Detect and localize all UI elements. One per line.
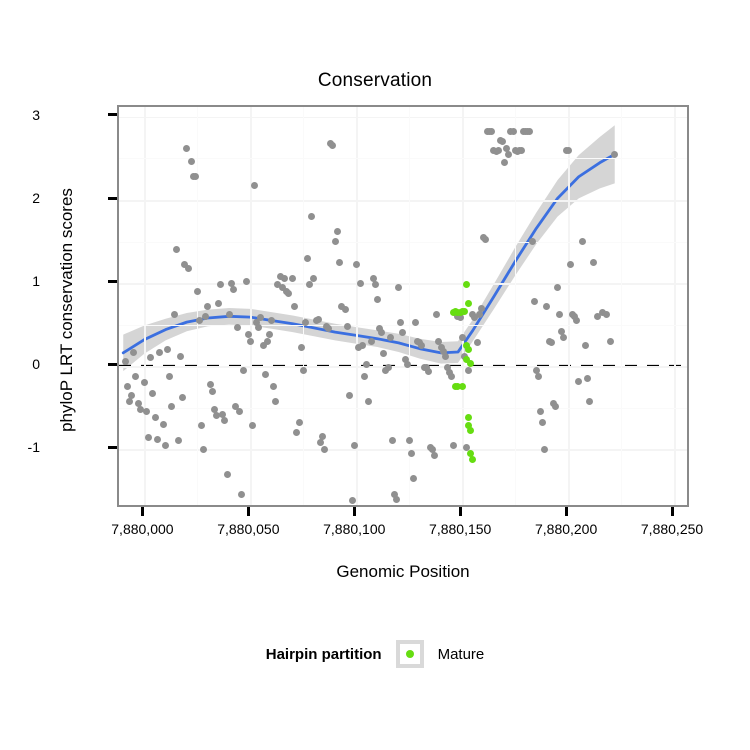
- data-point-other: [200, 446, 207, 453]
- data-point-other: [149, 390, 156, 397]
- data-point-other: [611, 151, 618, 158]
- data-point-other: [329, 142, 336, 149]
- gridline-x-minor: [409, 107, 410, 507]
- data-point-other: [243, 278, 250, 285]
- x-tick-label: 7,880,100: [323, 521, 385, 537]
- data-point-other: [357, 280, 364, 287]
- data-point-other: [543, 303, 550, 310]
- data-point-other: [247, 338, 254, 345]
- data-point-other: [321, 446, 328, 453]
- data-point-mature: [459, 308, 466, 315]
- x-tick-mark: [565, 507, 568, 516]
- data-point-other: [141, 379, 148, 386]
- data-point-other: [359, 342, 366, 349]
- gridline-y-major: [119, 283, 689, 285]
- gridline-y-major: [119, 117, 689, 119]
- data-point-other: [143, 408, 150, 415]
- data-point-other: [349, 497, 356, 504]
- data-point-other: [166, 373, 173, 380]
- gridline-y-minor: [119, 408, 689, 409]
- data-point-other: [395, 284, 402, 291]
- data-point-other: [171, 311, 178, 318]
- data-point-other: [221, 417, 228, 424]
- gridline-x-minor: [303, 107, 304, 507]
- legend-key-mature[interactable]: [396, 640, 424, 668]
- y-axis-title: phyloP LRT conservation scores: [57, 110, 77, 510]
- data-point-other: [425, 368, 432, 375]
- data-point-other: [478, 305, 485, 312]
- x-axis-title: Genomic Position: [117, 562, 689, 582]
- x-tick-mark: [353, 507, 356, 516]
- data-point-other: [160, 421, 167, 428]
- data-point-other: [308, 213, 315, 220]
- data-point-other: [188, 158, 195, 165]
- x-tick-label: 7,880,250: [641, 521, 703, 537]
- x-tick-mark: [247, 507, 250, 516]
- data-point-other: [501, 159, 508, 166]
- data-point-other: [325, 325, 332, 332]
- data-point-other: [249, 422, 256, 429]
- data-point-other: [147, 354, 154, 361]
- data-point-other: [495, 147, 502, 154]
- data-point-other: [296, 419, 303, 426]
- data-point-other: [266, 331, 273, 338]
- data-point-other: [332, 238, 339, 245]
- data-point-other: [342, 306, 349, 313]
- data-point-other: [179, 394, 186, 401]
- data-point-other: [128, 392, 135, 399]
- data-point-other: [488, 128, 495, 135]
- y-tick-label: 1: [0, 273, 40, 289]
- data-point-other: [209, 388, 216, 395]
- data-point-other: [306, 281, 313, 288]
- data-point-other: [510, 128, 517, 135]
- data-point-other: [156, 349, 163, 356]
- data-point-other: [215, 300, 222, 307]
- data-point-other: [226, 311, 233, 318]
- data-point-other: [389, 437, 396, 444]
- data-point-other: [207, 381, 214, 388]
- data-point-other: [300, 367, 307, 374]
- gridline-x-major: [250, 107, 252, 507]
- data-point-other: [399, 329, 406, 336]
- legend-title: Hairpin partition: [266, 646, 382, 663]
- data-point-other: [385, 364, 392, 371]
- data-point-other: [317, 439, 324, 446]
- gridline-x-minor: [197, 107, 198, 507]
- gridline-y-minor: [119, 242, 689, 243]
- data-point-other: [234, 324, 241, 331]
- data-point-other: [372, 281, 379, 288]
- data-point-other: [164, 346, 171, 353]
- data-point-other: [289, 275, 296, 282]
- data-point-other: [293, 429, 300, 436]
- data-point-other: [130, 349, 137, 356]
- data-point-other: [257, 314, 264, 321]
- data-point-other: [351, 442, 358, 449]
- data-point-mature: [465, 414, 472, 421]
- data-point-other: [264, 338, 271, 345]
- data-point-other: [346, 392, 353, 399]
- data-point-other: [285, 290, 292, 297]
- data-point-other: [418, 342, 425, 349]
- plot-panel: [117, 105, 689, 507]
- data-point-other: [183, 145, 190, 152]
- y-tick-label: 3: [0, 107, 40, 123]
- data-point-other: [236, 408, 243, 415]
- data-point-other: [579, 238, 586, 245]
- x-tick-mark: [141, 507, 144, 516]
- data-point-other: [132, 373, 139, 380]
- data-point-other: [505, 151, 512, 158]
- data-point-other: [567, 261, 574, 268]
- data-point-other: [255, 324, 262, 331]
- data-point-other: [378, 329, 385, 336]
- y-tick-label: 0: [0, 356, 40, 372]
- data-point-mature: [467, 427, 474, 434]
- data-point-other: [224, 471, 231, 478]
- data-point-other: [175, 437, 182, 444]
- gridline-y-minor: [119, 158, 689, 159]
- data-point-other: [548, 339, 555, 346]
- data-point-other: [539, 419, 546, 426]
- data-point-other: [270, 383, 277, 390]
- y-tick-mark: [108, 113, 117, 116]
- gridline-x-major: [568, 107, 570, 507]
- data-point-other: [238, 491, 245, 498]
- data-point-other: [217, 281, 224, 288]
- data-point-other: [251, 182, 258, 189]
- gridline-x-major: [144, 107, 146, 507]
- y-tick-mark: [108, 446, 117, 449]
- data-point-other: [450, 442, 457, 449]
- data-point-other: [541, 446, 548, 453]
- data-point-other: [410, 475, 417, 482]
- gridline-x-minor: [621, 107, 622, 507]
- chart-title: Conservation: [0, 70, 750, 92]
- data-point-other: [240, 367, 247, 374]
- data-point-other: [374, 296, 381, 303]
- data-point-mature: [465, 346, 472, 353]
- legend-marker-icon: [406, 650, 414, 658]
- data-point-other: [145, 434, 152, 441]
- data-point-other: [584, 375, 591, 382]
- data-point-other: [204, 303, 211, 310]
- x-tick-label: 7,880,150: [429, 521, 491, 537]
- data-point-other: [319, 433, 326, 440]
- data-point-other: [603, 311, 610, 318]
- data-point-other: [529, 238, 536, 245]
- data-point-other: [582, 342, 589, 349]
- conservation-plot: Conservation phyloP LRT conservation sco…: [0, 0, 750, 750]
- y-tick-label: 2: [0, 190, 40, 206]
- x-tick-label: 7,880,050: [217, 521, 279, 537]
- data-point-other: [408, 450, 415, 457]
- data-point-other: [387, 334, 394, 341]
- data-point-other: [192, 173, 199, 180]
- data-point-mature: [465, 300, 472, 307]
- data-point-other: [365, 398, 372, 405]
- data-point-other: [556, 311, 563, 318]
- data-point-other: [168, 403, 175, 410]
- data-point-other: [334, 228, 341, 235]
- data-point-other: [590, 259, 597, 266]
- data-point-other: [476, 311, 483, 318]
- data-point-other: [433, 311, 440, 318]
- data-point-mature: [450, 309, 457, 316]
- data-point-other: [518, 147, 525, 154]
- data-point-other: [315, 316, 322, 323]
- data-point-other: [431, 452, 438, 459]
- data-point-other: [194, 288, 201, 295]
- data-point-other: [465, 367, 472, 374]
- data-point-other: [607, 338, 614, 345]
- data-point-other: [565, 147, 572, 154]
- data-point-other: [526, 128, 533, 135]
- data-point-other: [262, 371, 269, 378]
- data-point-mature: [459, 383, 466, 390]
- data-point-other: [185, 265, 192, 272]
- data-point-other: [202, 313, 209, 320]
- data-point-other: [230, 286, 237, 293]
- gridline-x-major: [674, 107, 676, 507]
- y-tick-label: -1: [0, 439, 40, 455]
- data-point-other: [361, 373, 368, 380]
- x-tick-mark: [671, 507, 674, 516]
- data-point-other: [162, 442, 169, 449]
- data-point-other: [560, 334, 567, 341]
- data-point-other: [124, 383, 131, 390]
- data-point-other: [586, 398, 593, 405]
- data-point-other: [575, 378, 582, 385]
- data-point-other: [459, 334, 466, 341]
- data-point-other: [474, 339, 481, 346]
- data-point-other: [154, 436, 161, 443]
- data-point-other: [531, 298, 538, 305]
- data-point-other: [448, 373, 455, 380]
- data-point-other: [122, 358, 129, 365]
- data-point-other: [310, 275, 317, 282]
- x-tick-label: 7,880,200: [535, 521, 597, 537]
- data-point-other: [344, 323, 351, 330]
- data-point-other: [380, 350, 387, 357]
- gridline-x-minor: [515, 107, 516, 507]
- x-tick-label: 7,880,000: [111, 521, 173, 537]
- data-point-other: [404, 361, 411, 368]
- data-point-other: [535, 373, 542, 380]
- data-point-other: [442, 353, 449, 360]
- data-point-other: [291, 303, 298, 310]
- data-point-other: [552, 403, 559, 410]
- y-tick-mark: [108, 280, 117, 283]
- legend-label-mature: Mature: [438, 646, 485, 663]
- data-point-other: [268, 317, 275, 324]
- legend: Hairpin partition Mature: [0, 640, 750, 668]
- data-point-mature: [463, 281, 470, 288]
- gridline-y-major: [119, 200, 689, 202]
- data-point-other: [393, 496, 400, 503]
- data-point-other: [281, 275, 288, 282]
- y-tick-mark: [108, 197, 117, 200]
- gridline-y-minor: [119, 325, 689, 326]
- data-point-other: [173, 246, 180, 253]
- data-point-other: [406, 437, 413, 444]
- data-point-other: [573, 317, 580, 324]
- data-point-other: [177, 353, 184, 360]
- data-point-other: [554, 284, 561, 291]
- data-point-other: [272, 398, 279, 405]
- y-tick-mark: [108, 363, 117, 366]
- data-point-other: [304, 255, 311, 262]
- data-point-other: [353, 261, 360, 268]
- data-point-mature: [469, 456, 476, 463]
- data-point-other: [152, 414, 159, 421]
- x-tick-mark: [459, 507, 462, 516]
- data-point-other: [537, 408, 544, 415]
- data-point-other: [368, 338, 375, 345]
- data-point-other: [336, 259, 343, 266]
- data-point-other: [198, 422, 205, 429]
